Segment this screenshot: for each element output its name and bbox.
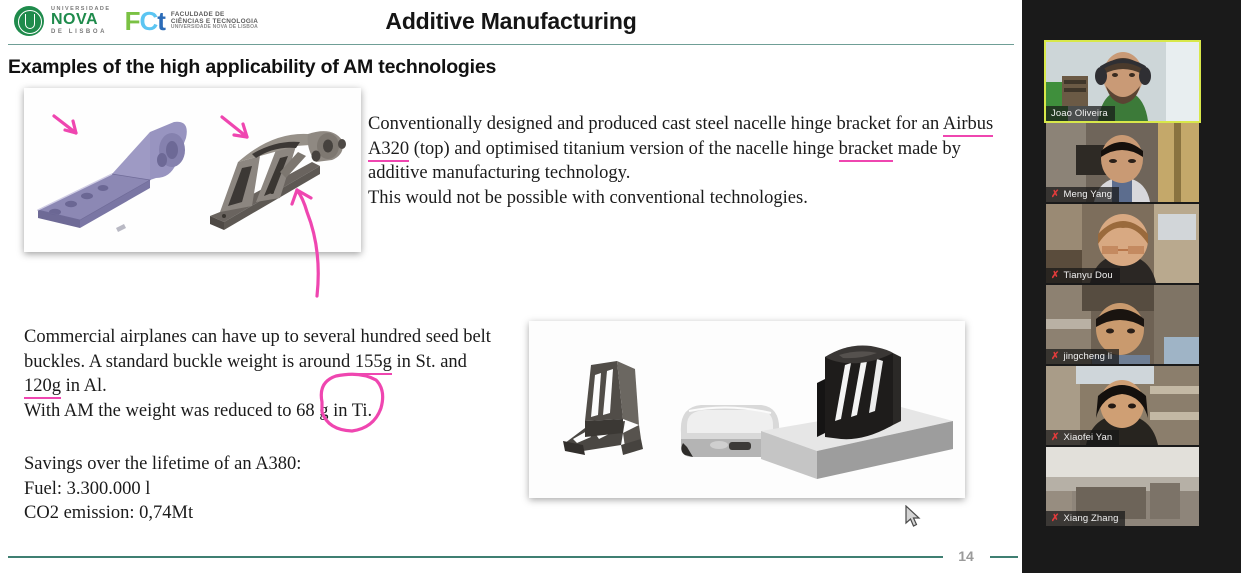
participant-name-2: Tianyu Dou [1063,270,1112,281]
nacelle-bracket-paragraph: Conventionally designed and produced cas… [368,112,1008,210]
participant-name-4: Xiaofei Yan [1063,432,1112,443]
participant-name-tag-4: ✗ Xiaofei Yan [1046,430,1119,445]
savings-line-co2: CO2 emission: 0,74Mt [24,501,444,526]
participant-tile-0[interactable]: Joao Oliveira [1046,42,1199,121]
presentation-slide: UNIVERSIDADE NOVA DE LISBOA F C t FACULD… [0,0,1022,573]
mute-icon-4: ✗ [1051,433,1059,443]
mute-icon-1: ✗ [1051,190,1059,200]
mute-icon-5: ✗ [1051,514,1059,524]
paragraph-right-underlined-bracket: bracket [839,139,893,162]
participant-tile-4[interactable]: ✗ Xiaofei Yan [1046,366,1199,445]
paragraph-left-part3: in Al. [61,376,107,396]
savings-line-title: Savings over the lifetime of an A380: [24,452,444,477]
slide-number: 14 [948,548,984,564]
participant-name-tag-2: ✗ Tianyu Dou [1046,268,1120,283]
mute-icon-2: ✗ [1051,271,1059,281]
paragraph-right-part4: This would not be possible with conventi… [368,188,808,208]
participant-name-3: jingcheng li [1063,351,1112,362]
participant-name-1: Meng Yang [1063,189,1112,200]
hinge-bracket-illustration [24,88,361,252]
participant-name-tag-1: ✗ Meng Yang [1046,187,1119,202]
hinge-bracket-figure [24,88,361,252]
participant-name-tag-0: Joao Oliveira [1046,106,1115,121]
paragraph-left-underlined-alu-weight: 120g [24,376,61,399]
participant-name-5: Xiang Zhang [1063,513,1118,524]
paragraph-left-part2: in St. and [392,352,467,372]
participant-name-tag-5: ✗ Xiang Zhang [1046,511,1125,526]
paragraph-left-circled-weight: to 68 g [277,401,328,421]
seat-belt-buckle-figure [529,321,965,498]
slide-heading: Examples of the high applicability of AM… [8,56,496,79]
participant-name-0: Joao Oliveira [1051,108,1108,119]
savings-paragraph: Savings over the lifetime of an A380: Fu… [24,452,444,526]
paragraph-left-underlined-steel-weight: 155g [355,352,392,375]
slide-title: Additive Manufacturing [0,8,1022,35]
footer-divider-left [8,556,943,558]
paragraph-left-part5: in Ti. [328,401,372,421]
seat-belt-buckle-paragraph: Commercial airplanes can have up to seve… [24,325,504,423]
participant-name-tag-3: ✗ jingcheng li [1046,349,1119,364]
participant-tile-2[interactable]: ✗ Tianyu Dou [1046,204,1199,283]
screen: UNIVERSIDADE NOVA DE LISBOA F C t FACULD… [0,0,1241,573]
participant-tile-1[interactable]: ✗ Meng Yang [1046,123,1199,202]
participant-tile-5[interactable]: ✗ Xiang Zhang [1046,447,1199,526]
participant-tile-3[interactable]: ✗ jingcheng li [1046,285,1199,364]
title-divider [8,44,1014,45]
mute-icon-3: ✗ [1051,352,1059,362]
video-participant-panel: Joao Oliveira ✗ Meng Yang [1022,0,1241,573]
paragraph-right-part1: Conventionally designed and produced cas… [368,114,943,134]
mouse-cursor-icon [905,505,923,529]
savings-line-fuel: Fuel: 3.300.000 l [24,477,444,502]
buckle-illustration [529,321,965,498]
footer-divider-right [990,556,1018,558]
paragraph-left-part4: With AM the weight was reduced [24,401,277,421]
paragraph-right-part2: (top) and optimised titanium version of … [409,139,839,159]
